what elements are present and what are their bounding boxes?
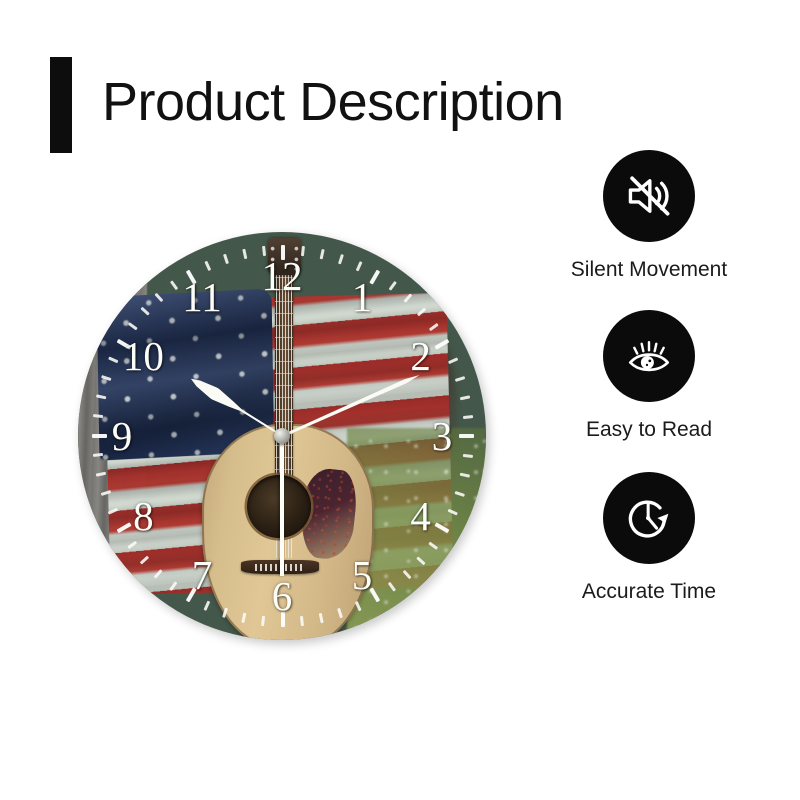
clock-numeral-5: 5: [335, 548, 389, 602]
clock-rotate-icon-badge: [603, 472, 695, 564]
clock-numeral-12: 12: [255, 249, 309, 303]
product-clock-image: 121234567891011: [78, 232, 486, 640]
feature-label-accurate-time: Accurate Time: [582, 580, 716, 604]
clock-second-hand: [280, 436, 284, 576]
feature-accurate-time: Accurate Time: [520, 472, 778, 604]
clock-numeral-6: 6: [255, 569, 309, 623]
clock-numeral-11: 11: [175, 270, 229, 324]
clock-numeral-3: 3: [415, 409, 469, 463]
clock-numeral-2: 2: [394, 329, 448, 383]
eye-icon: [623, 330, 675, 382]
clock-center-hub: [274, 428, 290, 444]
feature-easy-to-read: Easy to Read: [520, 310, 778, 442]
clock-numeral-4: 4: [394, 489, 448, 543]
mute-speaker-icon: [622, 169, 676, 223]
clock-rotate-icon: [622, 491, 676, 545]
page-header: Product Description: [50, 57, 564, 153]
feature-label-silent-movement: Silent Movement: [571, 258, 727, 282]
clock-numeral-1: 1: [335, 270, 389, 324]
mute-speaker-icon-badge: [603, 150, 695, 242]
feature-list: Silent Movement Easy to Read: [520, 150, 778, 626]
title-accent-bar: [50, 57, 72, 153]
clock-numeral-7: 7: [175, 548, 229, 602]
eye-icon-badge: [603, 310, 695, 402]
clock-numeral-10: 10: [116, 329, 170, 383]
feature-silent-movement: Silent Movement: [520, 150, 778, 282]
page-title: Product Description: [102, 75, 564, 135]
clock-numeral-8: 8: [116, 489, 170, 543]
clock-numeral-9: 9: [95, 409, 149, 463]
clock-face: 121234567891011: [78, 232, 486, 640]
feature-label-easy-to-read: Easy to Read: [586, 418, 712, 442]
